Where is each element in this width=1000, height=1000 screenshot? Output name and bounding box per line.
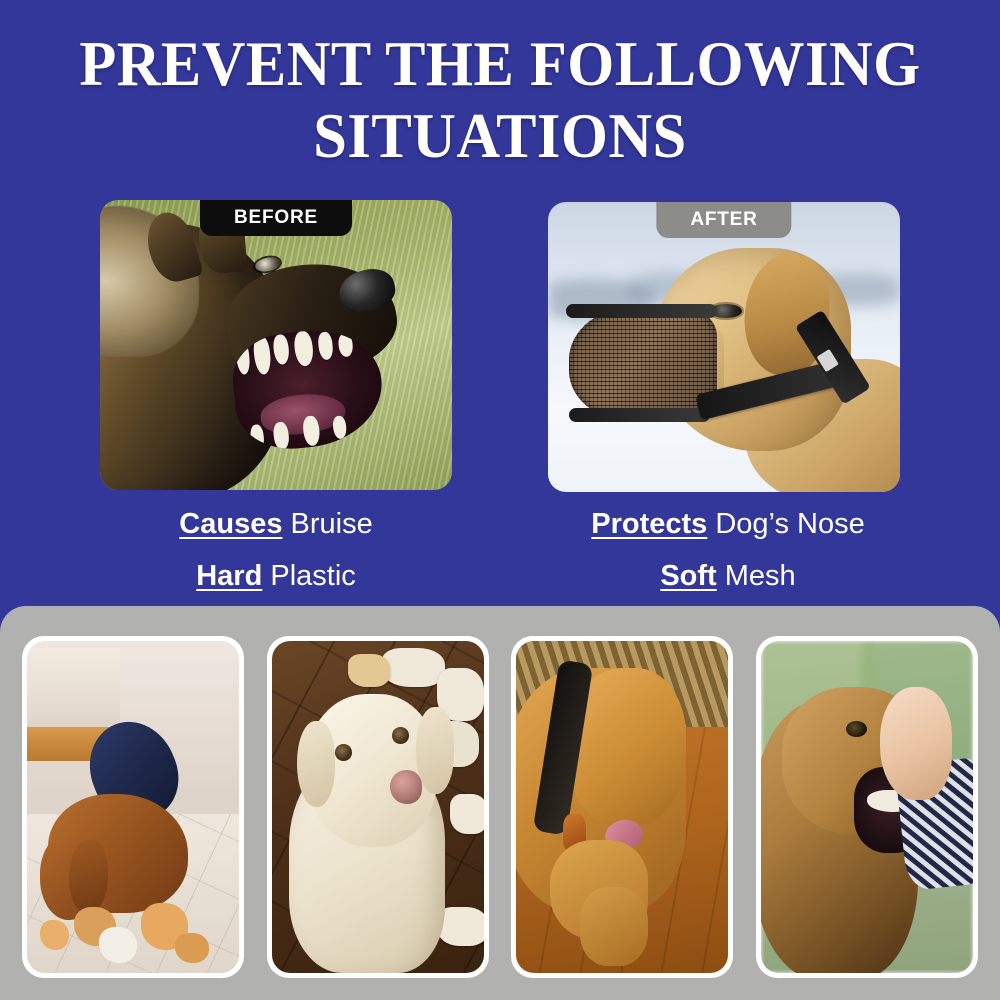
before-captions: Causes Bruise Hard Plastic — [56, 498, 496, 602]
before-caption-2-rest: Plastic — [262, 560, 355, 592]
after-caption-2-emphasis: Soft — [660, 560, 716, 592]
before-caption-2: Hard Plastic — [56, 550, 496, 602]
after-image-card: AFTER — [548, 202, 900, 492]
after-caption-2: Soft Mesh — [508, 550, 948, 602]
paw-licking-dog-illustration — [516, 641, 728, 973]
paper-scrap — [382, 648, 446, 688]
after-caption-1: Protects Dog’s Nose — [508, 498, 948, 550]
after-caption-2-rest: Mesh — [717, 560, 796, 592]
before-badge: BEFORE — [200, 200, 352, 236]
before-caption-2-emphasis: Hard — [196, 560, 262, 592]
gallery-thumbnail-1 — [22, 636, 244, 978]
gallery-thumbnail-1-photo — [27, 641, 239, 973]
paper-scrap — [175, 933, 209, 963]
dog-tooth — [252, 334, 272, 375]
page-title: PREVENT THE FOLLOWING SITUATIONS — [20, 28, 980, 172]
paper-scrap — [40, 920, 70, 950]
after-caption-1-rest: Dog’s Nose — [707, 508, 864, 540]
puppy-mess-illustration — [27, 641, 239, 973]
gallery-thumbnail-4 — [756, 636, 978, 978]
before-caption-1-rest: Bruise — [282, 508, 372, 540]
after-captions: Protects Dog’s Nose Soft Mesh — [508, 498, 948, 602]
poster-root: PREVENT THE FOLLOWING SITUATIONS — [0, 0, 1000, 1000]
dog-eye — [846, 721, 867, 738]
paper-scrap — [450, 794, 484, 834]
puppy-ear — [69, 840, 107, 913]
dog-tooth — [272, 334, 290, 366]
after-photo — [548, 202, 900, 492]
lab-eye-left — [335, 744, 352, 761]
paper-scrap — [348, 654, 390, 687]
person-hand — [880, 687, 952, 800]
page-title-line-2: SITUATIONS — [20, 100, 980, 172]
muzzle-rim-top — [566, 304, 717, 319]
after-badge: AFTER — [656, 202, 791, 238]
lab-nose — [390, 770, 422, 803]
gallery-thumbnail-4-photo — [761, 641, 973, 973]
kitchen-cabinet — [27, 648, 120, 737]
before-caption-1: Causes Bruise — [56, 498, 496, 550]
dog-paw-second — [580, 887, 648, 967]
white-lab-illustration — [272, 641, 484, 973]
page-title-line-1: PREVENT THE FOLLOWING — [20, 28, 980, 100]
gallery-thumbnail-3-photo — [516, 641, 728, 973]
aggressive-dog-illustration — [100, 200, 452, 490]
dog-tooth — [317, 331, 335, 360]
before-image-card: BEFORE — [100, 200, 452, 490]
lab-ear-left — [297, 721, 335, 807]
paper-scrap — [99, 927, 137, 964]
gallery-thumbnail-2-photo — [272, 641, 484, 973]
before-photo — [100, 200, 452, 490]
biting-dog-illustration — [761, 641, 973, 973]
gallery-thumbnail-3 — [511, 636, 733, 978]
gallery-thumbnail-2 — [267, 636, 489, 978]
after-caption-1-emphasis: Protects — [591, 508, 707, 540]
muzzled-dog-illustration — [548, 202, 900, 492]
before-caption-1-emphasis: Causes — [179, 508, 282, 540]
muzzle-rim-bottom — [569, 408, 710, 423]
dog-tooth — [331, 415, 347, 439]
gallery-thumbnail-row — [0, 636, 1000, 978]
mesh-muzzle — [569, 306, 717, 422]
dog-tooth — [293, 330, 314, 366]
